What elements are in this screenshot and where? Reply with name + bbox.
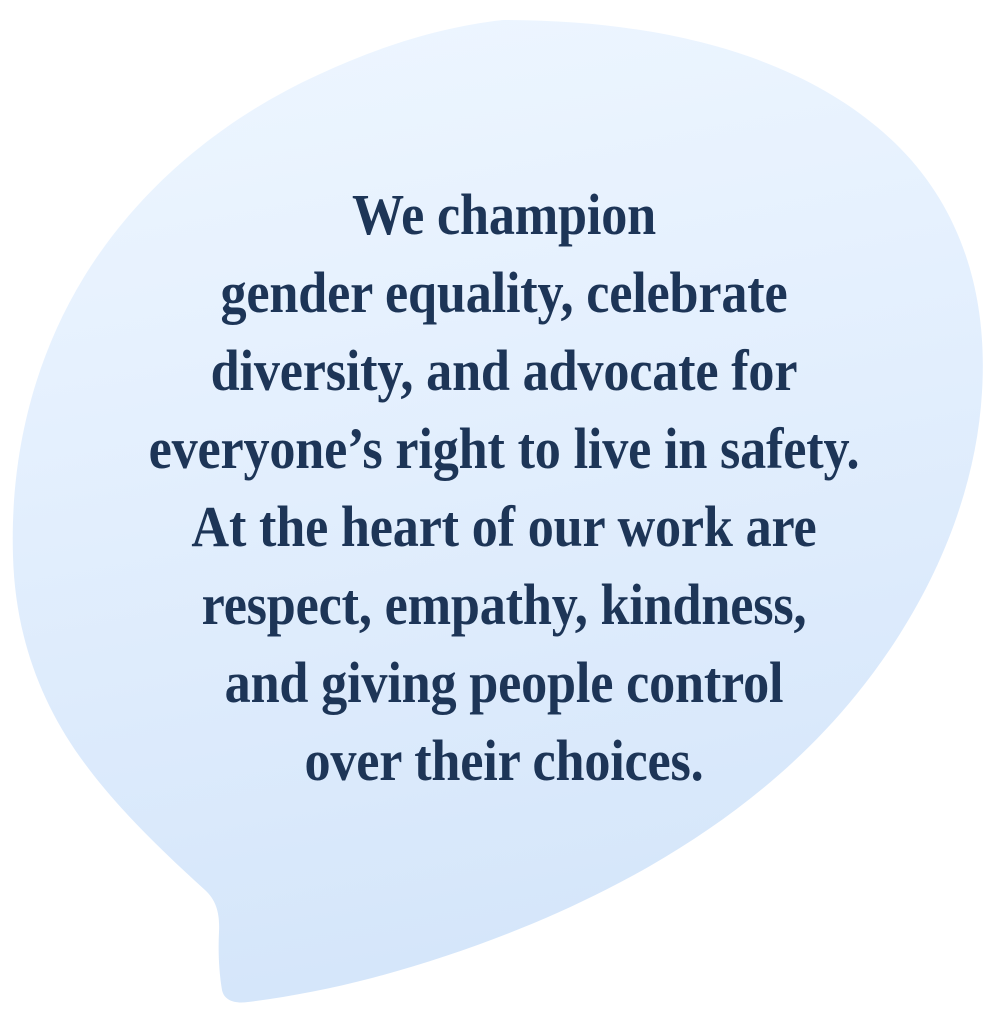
speech-bubble-card: We champion gender equality, celebrate d… (0, 0, 1007, 1024)
speech-bubble-graphic (0, 0, 1007, 1024)
speech-bubble-body-path (13, 20, 983, 1003)
